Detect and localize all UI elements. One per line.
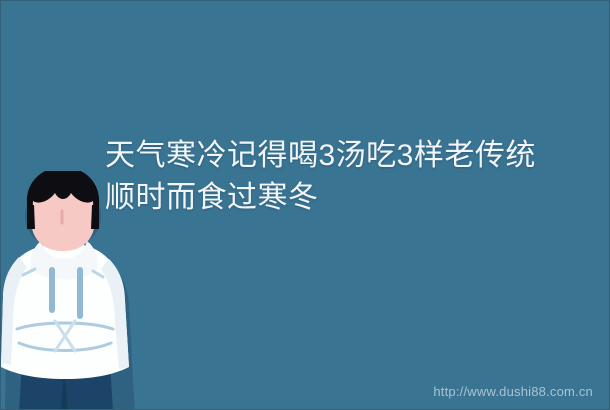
page-title: 天气寒冷记得喝3汤吃3样老传统 顺时而食过寒冬 bbox=[105, 135, 605, 219]
neck bbox=[49, 233, 79, 267]
drawstring-right bbox=[77, 267, 83, 319]
hoodie bbox=[1, 241, 129, 379]
pocket-line bbox=[17, 323, 113, 329]
face bbox=[31, 171, 95, 251]
hair bbox=[27, 171, 99, 229]
drawstring-left bbox=[49, 267, 55, 313]
watermark-url: http://www.dushi88.com.cn bbox=[433, 384, 593, 399]
trousers bbox=[19, 347, 113, 410]
poster-card: 天气寒冷记得喝3汤吃3样老传统 顺时而食过寒冬 http://www.dushi… bbox=[0, 0, 610, 410]
title-line-2: 顺时而食过寒冬 bbox=[105, 177, 605, 219]
title-line-1: 天气寒冷记得喝3汤吃3样老传统 bbox=[105, 135, 605, 177]
